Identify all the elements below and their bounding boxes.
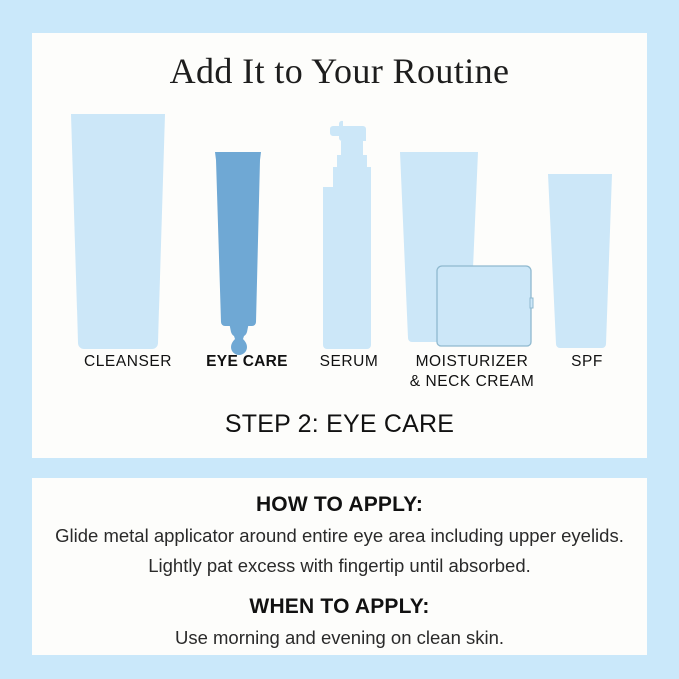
eye-cream-tube-icon [210, 150, 266, 350]
tube-icon [544, 172, 616, 350]
when-to-apply-body: Use morning and evening on clean skin. [40, 623, 640, 653]
product-cleanser [64, 114, 172, 350]
when-to-apply-block: WHEN TO APPLY: Use morning and evening o… [32, 593, 647, 653]
step-heading: STEP 2: EYE CARE [32, 410, 647, 439]
product-spf [544, 172, 616, 350]
tube-icon [64, 114, 172, 350]
product-label-moisturizer-line2: & NECK CREAM [362, 372, 582, 392]
page-title: Add It to Your Routine [0, 52, 679, 92]
product-moisturizer [395, 150, 535, 350]
product-serum [317, 124, 375, 350]
when-to-apply-heading: WHEN TO APPLY: [32, 593, 647, 621]
product-eye-care [210, 150, 266, 350]
product-label-spf: SPF [532, 352, 642, 372]
how-to-apply-block: HOW TO APPLY: Glide metal applicator aro… [32, 491, 647, 581]
tube-and-jar-icon [395, 150, 535, 350]
instructions-content: HOW TO APPLY: Glide metal applicator aro… [32, 478, 647, 655]
product-label-row: CLEANSER EYE CARE SERUM MOISTURIZER & NE… [32, 352, 647, 402]
pump-bottle-icon [317, 124, 375, 350]
product-illustration-row [32, 105, 647, 350]
how-to-apply-heading: HOW TO APPLY: [32, 491, 647, 519]
routine-infographic: Add It to Your Routine [0, 0, 679, 679]
how-to-apply-body: Glide metal applicator around entire eye… [40, 521, 640, 581]
